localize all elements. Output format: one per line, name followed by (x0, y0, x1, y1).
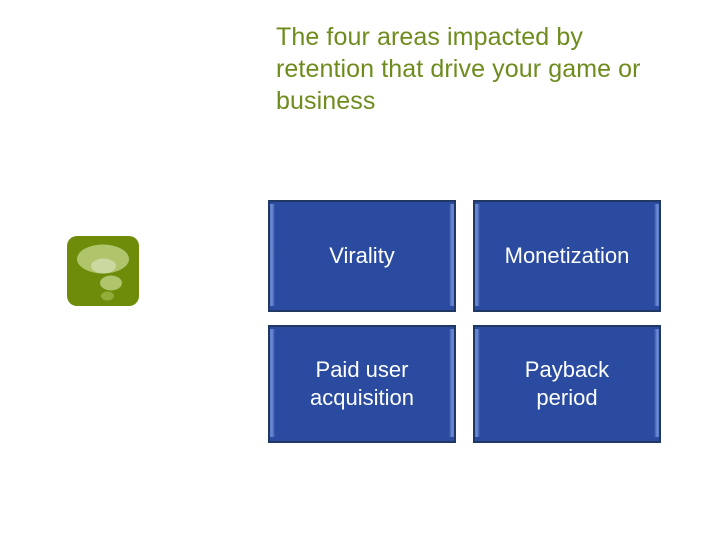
slide-canvas: The four areas impacted by retention tha… (0, 0, 720, 540)
concept-box-label: Payback period (519, 356, 615, 412)
concept-box-label: Paid user acquisition (304, 356, 420, 412)
thought-bubble-logo (67, 236, 139, 306)
page-title: The four areas impacted by retention tha… (276, 21, 676, 117)
concept-box-label: Monetization (499, 242, 636, 270)
concept-box-virality[interactable]: Virality (268, 200, 456, 312)
concept-box-label: Virality (323, 242, 401, 270)
thought-bubble-logo-icon (67, 236, 139, 306)
concept-box-paid-user-acquisition[interactable]: Paid user acquisition (268, 325, 456, 443)
concept-box-payback-period[interactable]: Payback period (473, 325, 661, 443)
concept-box-monetization[interactable]: Monetization (473, 200, 661, 312)
